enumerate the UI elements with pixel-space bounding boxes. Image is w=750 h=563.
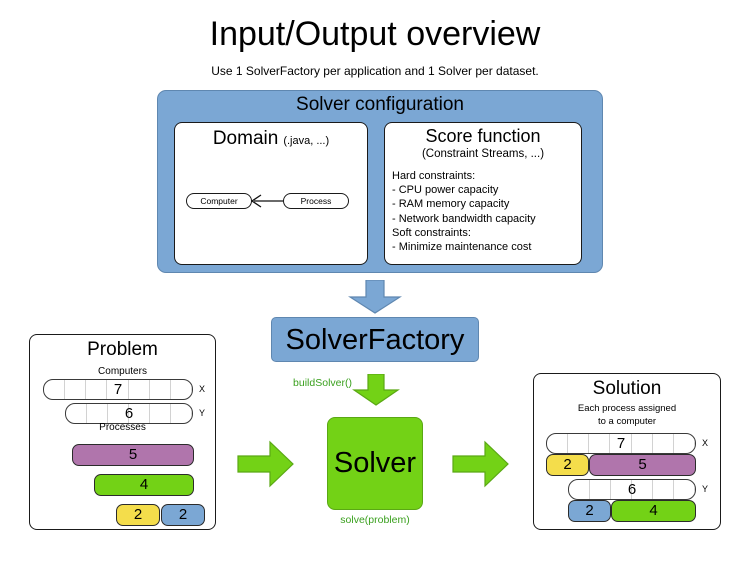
capacity-value: 6	[569, 480, 695, 499]
solution-title: Solution	[533, 376, 721, 401]
hard-constraint-item: - CPU power capacity	[392, 183, 578, 197]
assigned-process-chip: 2	[568, 500, 611, 522]
hard-constraint-item: - RAM memory capacity	[392, 197, 578, 211]
solver-configuration-title: Solver configuration	[157, 93, 603, 117]
assigned-process-chip: 4	[611, 500, 696, 522]
page-title: Input/Output overview	[0, 14, 750, 54]
diagram-canvas: Input/Output overview Use 1 SolverFactor…	[0, 0, 750, 563]
score-function-subtitle: (Constraint Streams, ...)	[384, 147, 582, 162]
solution-computer-capacity-bar: 7	[546, 433, 696, 454]
computer-id-label: X	[702, 433, 708, 454]
solve-problem-label: solve(problem)	[327, 513, 423, 527]
arrow-down-green-icon	[352, 374, 400, 406]
build-solver-label: buildSolver()	[278, 376, 352, 390]
domain-title-main: Domain	[213, 128, 278, 149]
soft-constraint-item: - Minimize maintenance cost	[392, 240, 578, 254]
assigned-process-chip: 5	[589, 454, 696, 476]
soft-constraints-label: Soft constraints:	[392, 226, 578, 240]
process-chip: 2	[116, 504, 160, 526]
hard-constraint-item: - Network bandwidth capacity	[392, 212, 578, 226]
solver-factory-label: SolverFactory	[271, 320, 479, 360]
arrow-right-green-problem-icon	[237, 440, 295, 488]
entity-relation-arrow	[252, 200, 283, 202]
computer-id-label: Y	[702, 479, 708, 500]
solution-computer-capacity-bar: 6	[568, 479, 696, 500]
domain-title: Domain(.java, ...)	[174, 127, 368, 153]
arrow-right-green-solution-icon	[452, 440, 510, 488]
solution-subtitle-line2: to a computer	[533, 416, 721, 429]
solution-computer-row: 7 X	[546, 433, 718, 454]
process-chip: 2	[161, 504, 205, 526]
process-chip: 5	[72, 444, 194, 466]
process-chip: 4	[94, 474, 194, 496]
page-subtitle: Use 1 SolverFactory per application and …	[0, 63, 750, 79]
solution-subtitle: Each process assigned to a computer	[533, 403, 721, 428]
hard-constraints-label: Hard constraints:	[392, 169, 578, 183]
domain-title-suffix: (.java, ...)	[283, 135, 329, 147]
problem-title: Problem	[29, 337, 216, 362]
solution-assigned-processes: 2 5	[546, 454, 696, 476]
assigned-process-chip: 2	[546, 454, 589, 476]
solution-subtitle-line1: Each process assigned	[533, 403, 721, 416]
problem-computer-row: 7 X	[43, 379, 215, 400]
solver-label: Solver	[327, 443, 423, 483]
arrow-down-blue-icon	[348, 280, 402, 314]
score-function-title: Score function	[384, 125, 582, 148]
capacity-value: 7	[547, 434, 695, 453]
entity-process: Process	[283, 193, 349, 209]
problem-processes-label: Processes	[29, 421, 216, 434]
score-function-constraint-list: Hard constraints: - CPU power capacity -…	[392, 169, 578, 254]
solution-assigned-processes: 2 4	[568, 500, 696, 522]
problem-computers-label: Computers	[29, 365, 216, 378]
computer-id-label: X	[199, 379, 205, 400]
entity-computer: Computer	[186, 193, 252, 209]
solution-computer-row: 6 Y	[568, 479, 718, 500]
problem-computer-capacity-bar: 7	[43, 379, 193, 400]
capacity-value: 7	[44, 380, 192, 399]
